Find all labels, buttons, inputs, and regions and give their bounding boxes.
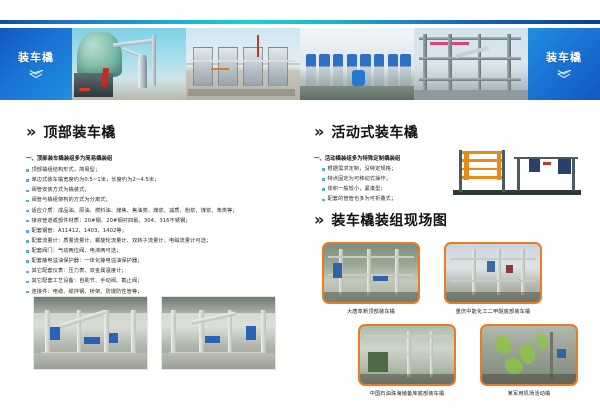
bullet-icon [26,271,29,274]
gallery-row-1: 大唐阜新顶部装车橇 重庆中能化工二甲醚底部装车橇 [322,242,584,315]
list-item: 配套钢管：A11412、1403、1402等； [26,228,294,236]
section-top-loading-header: » 顶部装车橇 [26,122,294,142]
gallery-item-1: 大唐阜新顶部装车橇 [322,242,420,315]
chevron-down-icon [557,70,571,79]
list-item: 连接件：电缆、缆拌钢、桥架、防爆防性管等； [26,289,294,297]
gallery-caption: 大唐阜新顶部装车橇 [322,308,420,315]
bullet-icon [26,291,29,294]
section-top-loading-title: 顶部装车橇 [43,122,116,142]
bullet-icon [26,230,29,233]
section-top-loading-subtitle: 一、顶部装车橇装组多为简易橇装组 [26,155,294,163]
hero-banner: 装车橇 [0,28,600,100]
site-gallery-grid: 大唐阜新顶部装车橇 重庆中能化工二甲醚底部装车橇 [322,242,584,397]
bullet-icon [26,260,29,263]
bullet-icon [322,168,325,171]
banner-tab-left-label: 装车橇 [18,49,54,65]
list-item: 其它配套工艺设备：自助节、手动阀、截止阀； [26,278,294,286]
top-loading-photo-pair [33,296,276,370]
brochure-page: 装车橇 [0,0,600,412]
list-item: 适应介质：成品油、原油、燃料油、煤焦、焦油类、煤浆、减质、粉浆、煤浆、苯类等； [26,208,294,216]
mobile-skid-illustration [444,142,590,200]
gallery-item-4: 某军用机场活动橇 [480,324,578,397]
military-airport-mobile-skid-photo [480,324,578,386]
banner-tab-right[interactable]: 装车橇 [528,28,600,100]
section-site-gallery-header: » 装车橇装组现场图 [314,210,582,230]
bullet-icon [26,210,29,213]
bullet-icon [322,199,325,202]
bullet-icon [26,281,29,284]
bullet-icon [26,169,29,172]
banner-tab-left[interactable]: 装车橇 [0,28,72,100]
bullet-icon [26,240,29,243]
gallery-caption: 中国石油珠海储备库底部装车橇 [358,390,456,397]
section-marker-icon: » [314,212,324,228]
section-mobile-loading-header: » 活动式装车橇 [314,122,582,142]
gallery-item-3: 中国石油珠海储备库底部装车橇 [358,324,456,397]
workshop-loading-skid-photo-2 [161,296,276,370]
list-item: 配套流量计：质量流量计、螺旋轮流量计、双转子流量计、电磁流量计可选； [26,238,294,246]
chevron-down-icon [29,70,43,79]
bullet-icon [26,179,29,182]
gallery-caption: 某军用机场活动橇 [480,390,578,397]
list-item: 接液管道或部件材质：20#钢、20#钢衬四氟、304、316不锈钢； [26,218,294,226]
banner-photo-gantry [414,28,528,100]
banner-tab-right-label: 装车橇 [546,49,582,65]
gallery-caption: 重庆中能化工二甲醚底部装车橇 [444,308,542,315]
section-marker-icon: » [26,124,36,140]
list-item: 配套静电溢油保护器：一体化静电溢油保护器； [26,258,294,266]
chongqing-dme-bottom-loading-skid-photo [444,242,542,304]
workshop-loading-skid-photo-1 [33,296,148,370]
gallery-row-2: 中国石油珠海储备库底部装车橇 某军用机场活动橇 [358,324,584,397]
list-item: 顶部橇组结构形式，简易型； [26,167,294,175]
list-item: 其它配套仪表：压力表、双金属温度计； [26,268,294,276]
banner-photo-workshop [300,28,414,100]
list-item: 阀管安装方式为橇装式； [26,187,294,195]
bullet-icon [322,178,325,181]
bullet-icon [322,188,325,191]
section-site-gallery-title: 装车橇装组现场图 [331,210,447,230]
section-mobile-loading-title: 活动式装车橇 [331,122,418,142]
petrochina-zhuhai-bottom-loading-skid-photo [358,324,456,386]
list-item: 阀管与橇组架构的方式为分离式； [26,197,294,205]
top-gradient-rule [0,20,600,24]
section-marker-icon: » [314,124,324,140]
section-top-loading: » 顶部装车橇 一、顶部装车橇装组多为简易橇装组 顶部橇组结构形式，简易型； 单… [26,122,294,299]
banner-photo-outdoor-skid [186,28,300,100]
bullet-icon [26,220,29,223]
section-site-gallery: » 装车橇装组现场图 [314,210,582,230]
datang-fuxin-top-loading-skid-photo [322,242,420,304]
list-item: 配套阀门：气动两位阀、电液两可选； [26,248,294,256]
top-loading-bullet-list: 顶部橇组结构形式，简易型； 单边式装车橇宽度约为0.5~1米，长度约为2~4.5… [26,167,294,296]
list-item: 单边式装车橇宽度约为0.5~1米，长度约为2~4.5米； [26,177,294,185]
banner-photo-tanker-truck [72,28,186,100]
gallery-item-2: 重庆中能化工二甲醚底部装车橇 [444,242,542,315]
bullet-icon [26,200,29,203]
bullet-icon [26,190,29,193]
bullet-icon [26,250,29,253]
